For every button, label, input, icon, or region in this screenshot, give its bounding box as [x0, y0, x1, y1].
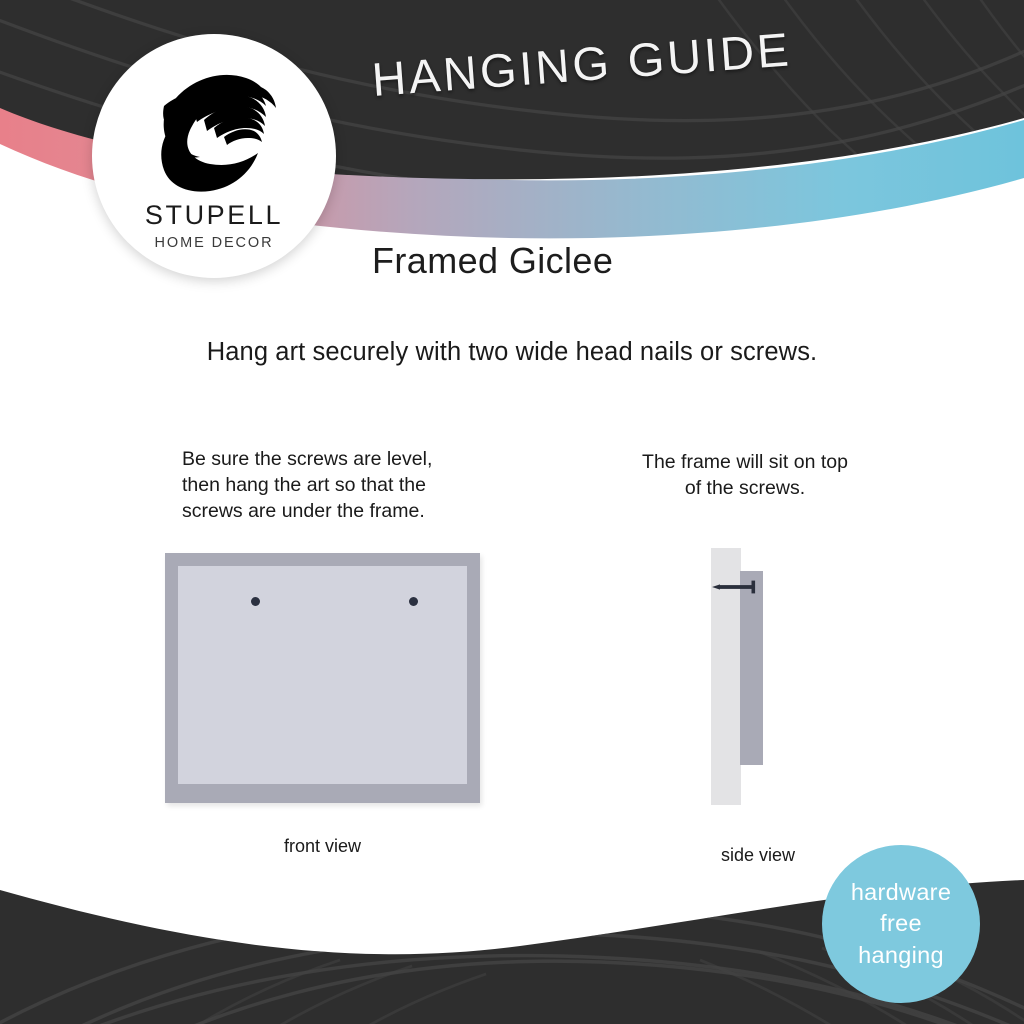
side-view-label: side view [672, 845, 844, 866]
main-instruction-text: Hang art securely with two wide head nai… [0, 338, 1024, 367]
nail-icon [712, 579, 762, 595]
screw-head-left-icon [251, 597, 260, 606]
hanging-guide-page: STUPELL HOME DECOR HANGING GUIDE Framed … [0, 0, 1024, 1024]
badge-line-1: hardware [851, 877, 951, 908]
front-view-label: front view [165, 836, 480, 857]
frame-cross-section [740, 571, 763, 765]
side-view-caption: The frame will sit on top of the screws. [600, 450, 890, 502]
product-type-heading: Framed Giclee [372, 240, 613, 282]
picture-frame-artwork-panel [178, 566, 467, 784]
badge-line-2: free [880, 908, 922, 939]
brand-name: STUPELL [145, 202, 283, 229]
picture-frame-border [165, 553, 480, 803]
page-title: HANGING GUIDE [370, 21, 793, 107]
hardware-free-hanging-badge: hardware free hanging [822, 845, 980, 1003]
front-view-diagram [165, 553, 480, 803]
screw-head-right-icon [409, 597, 418, 606]
side-caption-line-2: of the screws. [600, 476, 890, 502]
front-view-caption: Be sure the screws are level, then hang … [182, 447, 482, 525]
side-caption-line-1: The frame will sit on top [600, 450, 890, 476]
front-caption-line-1: Be sure the screws are level, [182, 447, 482, 473]
brand-logo-badge: STUPELL HOME DECOR [92, 34, 336, 278]
side-view-diagram [711, 548, 806, 806]
stupell-swirl-s-logo-icon [148, 60, 280, 198]
brand-tagline: HOME DECOR [155, 236, 274, 251]
front-caption-line-3: screws are under the frame. [182, 499, 482, 525]
front-caption-line-2: then hang the art so that the [182, 473, 482, 499]
badge-line-3: hanging [858, 940, 944, 971]
